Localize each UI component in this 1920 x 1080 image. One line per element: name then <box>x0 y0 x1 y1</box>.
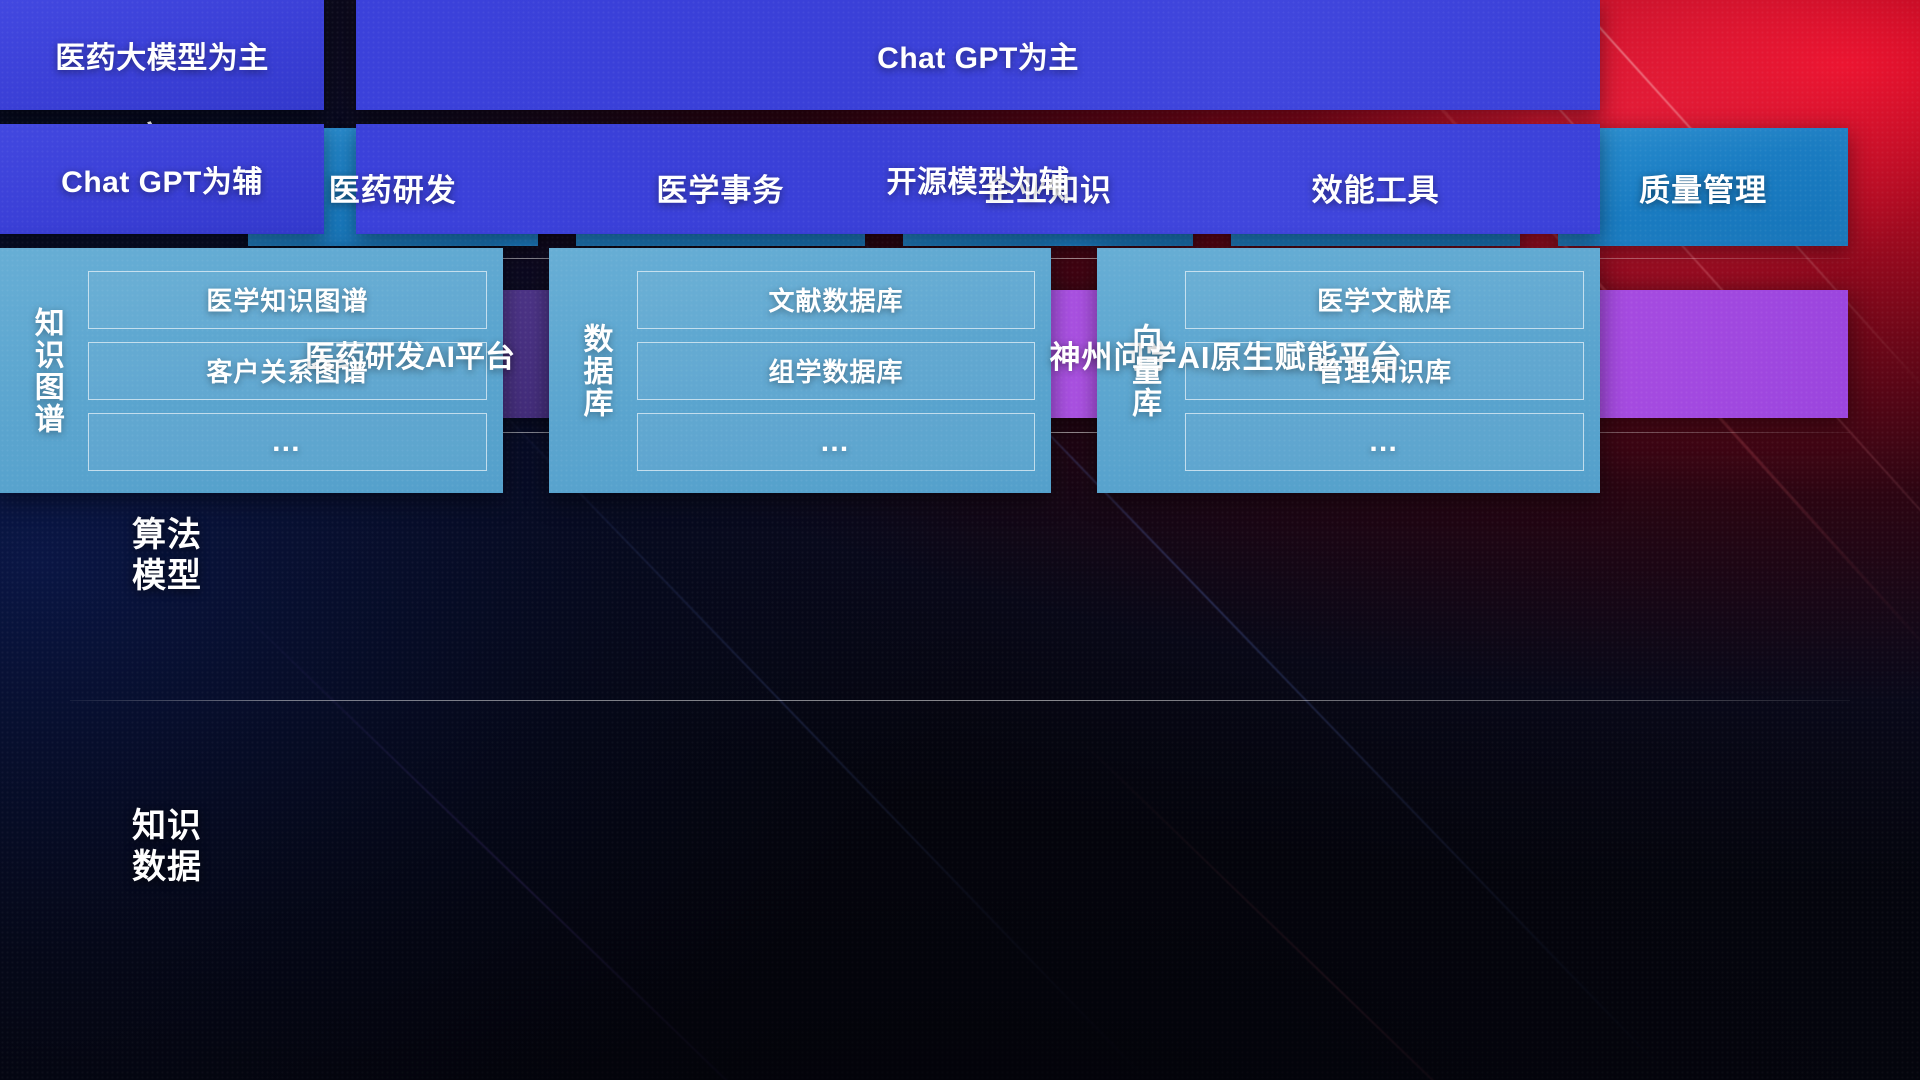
algorithm-left-label: Chat GPT为辅 <box>61 157 263 201</box>
knowledge-item[interactable]: 文献数据库 <box>637 271 1036 329</box>
scenario-card-label: 质量管理 <box>1639 165 1767 210</box>
knowledge-panel-vertical-label: 知识图谱 <box>14 260 78 481</box>
divider-3 <box>70 700 1850 701</box>
knowledge-item-list: 医学文献库 管理知识库 … <box>1185 271 1584 471</box>
knowledge-item[interactable]: 医学知识图谱 <box>88 271 487 329</box>
knowledge-row: 知识图谱 医学知识图谱 客户关系图谱 … 数据库 文献数据库 组学数据库 … 向… <box>0 248 1600 493</box>
knowledge-item[interactable]: 管理知识库 <box>1185 342 1584 400</box>
algorithm-card-left-0[interactable]: 医药大模型为主 <box>0 0 324 110</box>
algorithm-right-label: Chat GPT为主 <box>877 33 1079 77</box>
knowledge-item-more[interactable]: … <box>637 413 1036 471</box>
algorithm-card-left-1[interactable]: Chat GPT为辅 <box>0 124 324 234</box>
knowledge-item-list: 文献数据库 组学数据库 … <box>637 271 1036 471</box>
row-label-algorithm: 算法模型 <box>92 515 242 598</box>
knowledge-item-list: 医学知识图谱 客户关系图谱 … <box>88 271 487 471</box>
algorithm-line-0: 医药大模型为主 Chat GPT为主 <box>0 0 1600 110</box>
knowledge-panel-database[interactable]: 数据库 文献数据库 组学数据库 … <box>549 248 1052 493</box>
knowledge-item-more[interactable]: … <box>88 413 487 471</box>
architecture-diagram: 应用场景 医药研发 医学事务 企业知识 效能工具 质量管理 MaaS 医药研发A… <box>0 0 1920 1080</box>
scenario-card-label: 医学事务 <box>656 165 784 210</box>
knowledge-item[interactable]: 组学数据库 <box>637 342 1036 400</box>
knowledge-item[interactable]: 客户关系图谱 <box>88 342 487 400</box>
knowledge-panel-vector-store[interactable]: 向量库 医学文献库 管理知识库 … <box>1097 248 1600 493</box>
knowledge-item[interactable]: 医学文献库 <box>1185 271 1584 329</box>
scenario-card-4[interactable]: 质量管理 <box>1558 128 1848 246</box>
scenario-card-label: 医药研发 <box>329 165 457 210</box>
algorithm-right-label: 开源模型为辅 <box>887 157 1070 201</box>
knowledge-panel-vertical-label: 数据库 <box>563 260 627 481</box>
knowledge-panel-knowledge-graph[interactable]: 知识图谱 医学知识图谱 客户关系图谱 … <box>0 248 503 493</box>
row-label-knowledge: 知识数据 <box>92 806 242 889</box>
knowledge-item-more[interactable]: … <box>1185 413 1584 471</box>
algorithm-card-right-0[interactable]: Chat GPT为主 <box>356 0 1600 110</box>
knowledge-panel-vertical-label: 向量库 <box>1111 260 1175 481</box>
algorithm-left-label: 医药大模型为主 <box>55 33 269 77</box>
scenario-card-label: 效能工具 <box>1312 165 1440 210</box>
